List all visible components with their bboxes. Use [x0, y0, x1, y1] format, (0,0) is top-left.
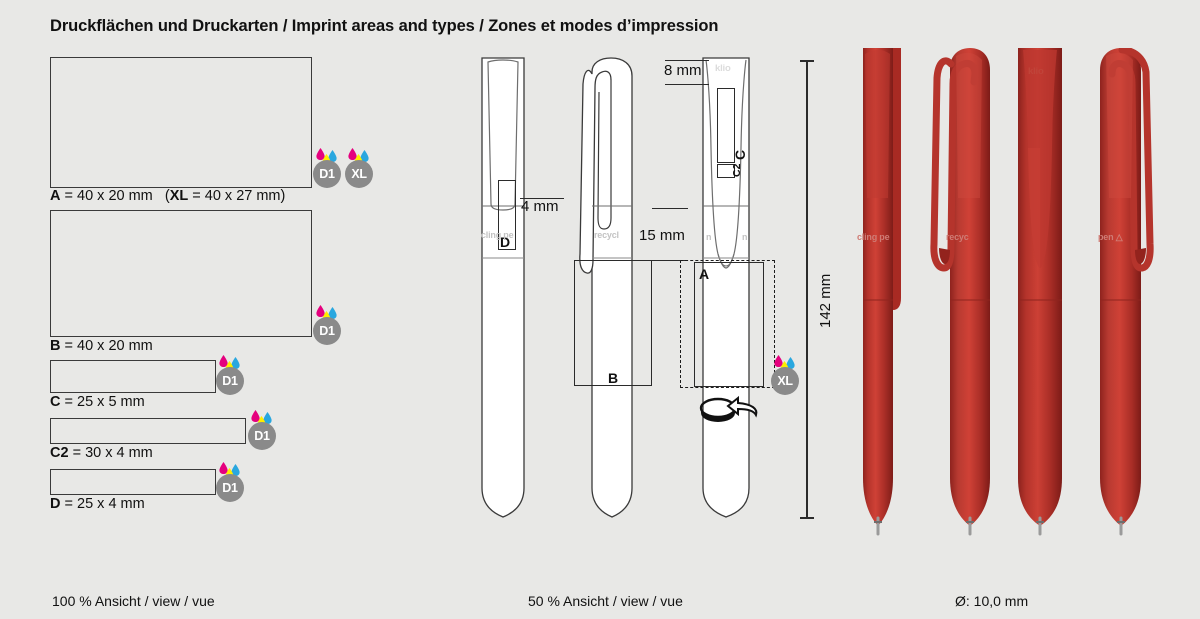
print-badge-d1-area-c2: D1 [246, 410, 280, 450]
imprint-label-C2: C2 = 30 x 4 mm [50, 445, 153, 461]
imprint-zone-C-letter: C [732, 150, 748, 160]
dimension-leader-8mm-bottom [665, 84, 709, 85]
imprint-spec-sheet: Druckflächen und Druckarten / Imprint ar… [0, 0, 1200, 619]
imprint-area-D [50, 469, 216, 495]
imprint-label-A-xl-dims: = 40 x 27 mm) [188, 188, 285, 204]
badge-disc: D1 [216, 474, 244, 502]
badge-label: XL [777, 375, 792, 388]
pen-barrel-text-right-2: n [742, 232, 747, 242]
imprint-label-A-dims: = 40 x 20 mm [60, 188, 152, 204]
dimension-tick-142mm-bottom [800, 517, 814, 519]
dimension-tick-142mm-top [800, 60, 814, 62]
pen-barrel-text-left: cling pe [481, 230, 513, 240]
badge-label: D1 [319, 168, 334, 181]
imprint-area-B [50, 210, 312, 337]
dimension-label-8mm: 8 mm [664, 62, 702, 79]
pen-photo-clip-face [1012, 48, 1074, 536]
badge-disc: XL [345, 160, 373, 188]
imprint-zone-B-letter: B [608, 370, 618, 386]
rotation-indicator-icon [690, 392, 766, 424]
badge-disc: D1 [313, 160, 341, 188]
imprint-label-C: C = 25 x 5 mm [50, 394, 145, 410]
print-badge-d1-area-a: D1 [311, 148, 345, 188]
dimension-label-142mm: 142 mm [814, 272, 837, 330]
imprint-label-B-letter: B [50, 338, 60, 354]
imprint-label-C2-dims: = 30 x 4 mm [69, 445, 153, 461]
imprint-zone-A-letter: A [699, 266, 709, 282]
pen-photo-front [855, 48, 917, 536]
pen-photo-side-right [1092, 48, 1166, 536]
imprint-label-B-dims: = 40 x 20 mm [60, 338, 152, 354]
badge-label: XL [351, 168, 366, 181]
pen-photo-barrel-text-3: pen △ [1098, 232, 1122, 243]
pen-photo-side-left [930, 48, 1002, 536]
badge-disc: XL [771, 367, 799, 395]
print-badge-d1-area-d: D1 [214, 462, 248, 502]
imprint-label-C-letter: C [50, 394, 60, 410]
print-badge-d1-area-b: D1 [311, 305, 345, 345]
pen-photo-barrel-text-1: cling pe [857, 232, 889, 242]
dimension-line-142mm [806, 60, 808, 518]
imprint-area-C2 [50, 418, 246, 444]
badge-disc: D1 [313, 317, 341, 345]
imprint-label-A-gap [153, 188, 165, 204]
print-badge-d1-area-c: D1 [214, 355, 248, 395]
imprint-label-C2-letter: C2 [50, 445, 69, 461]
badge-disc: D1 [248, 422, 276, 450]
imprint-label-A: A = 40 x 20 mm (XL = 40 x 27 mm) [50, 188, 285, 204]
badge-label: D1 [222, 482, 237, 495]
imprint-label-A-letter: A [50, 188, 60, 204]
imprint-zone-B-on-pen [574, 260, 652, 386]
badge-disc: D1 [216, 367, 244, 395]
imprint-label-B: B = 40 x 20 mm [50, 338, 153, 354]
badge-label: D1 [254, 430, 269, 443]
imprint-zone-C2-letter: C2 [731, 164, 743, 177]
imprint-area-C [50, 360, 216, 393]
pen-photo-barrel-text-2: recyc [946, 232, 969, 242]
pen-clip-brand-mark: klio [715, 63, 731, 74]
imprint-label-A-xl: XL [170, 188, 189, 204]
badge-label: D1 [319, 325, 334, 338]
imprint-label-D: D = 25 x 4 mm [50, 496, 145, 512]
imprint-area-A [50, 57, 312, 188]
imprint-label-D-letter: D [50, 496, 60, 512]
dimension-leader-15mm-top [652, 208, 688, 209]
pen-barrel-text-middle: recycl [594, 230, 619, 240]
imprint-label-D-dims: = 25 x 4 mm [60, 496, 144, 512]
dimension-label-15mm: 15 mm [639, 227, 685, 244]
print-badge-xl-area-a: XL [343, 148, 377, 188]
pen-lineart-front-view [478, 58, 528, 520]
pen-photo-clip-brand: klio [1028, 66, 1044, 77]
page-title: Druckflächen und Druckarten / Imprint ar… [50, 17, 718, 36]
pen-barrel-text-right-1: n [706, 232, 711, 242]
footer-scale-center: 50 % Ansicht / view / vue [528, 593, 683, 609]
footer-diameter: Ø: 10,0 mm [955, 593, 1028, 609]
imprint-label-C-dims: = 25 x 5 mm [60, 394, 144, 410]
footer-scale-left: 100 % Ansicht / view / vue [52, 593, 215, 609]
badge-label: D1 [222, 375, 237, 388]
print-badge-xl-on-pen: XL [769, 355, 803, 395]
dimension-label-4mm: 4 mm [521, 198, 559, 215]
